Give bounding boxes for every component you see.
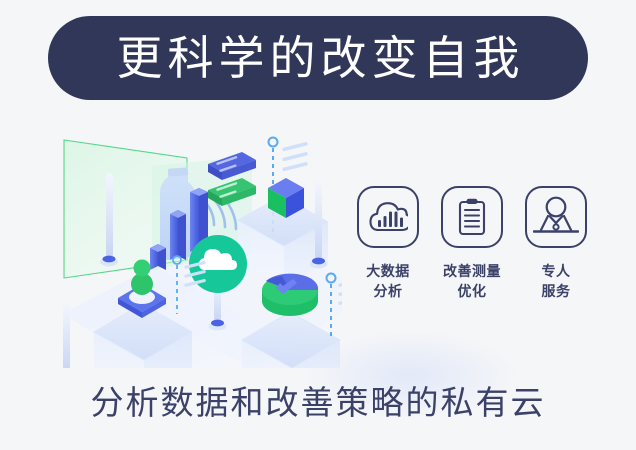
header-banner: 更科学的改变自我 (48, 16, 588, 100)
feature-label-big-data-analysis: 大数据 分析 (366, 261, 410, 302)
clipboard-lines-icon-box (441, 186, 503, 248)
isometric-illustration (42, 118, 342, 368)
feature-label-measure-optimize: 改善测量 优化 (443, 261, 501, 302)
cloud-bar-chart-icon-box (357, 186, 419, 248)
cloud-bar-chart-icon (368, 200, 408, 234)
pie-chart-3d (262, 274, 318, 316)
feature-label-dedicated-service: 专人 服务 (542, 261, 571, 302)
feature-measure-optimize[interactable]: 改善测量 优化 (436, 186, 508, 302)
tagline: 分析数据和改善策略的私有云 (0, 386, 636, 419)
feature-dedicated-service[interactable]: 专人 服务 (520, 186, 592, 302)
feature-list: 大数据 分析 改善测量 优化 (352, 186, 592, 302)
service-person-icon (533, 196, 579, 238)
page-title: 更科学的改变自我 (112, 35, 525, 81)
feature-big-data-analysis[interactable]: 大数据 分析 (352, 186, 424, 302)
poster-root: 更科学的改变自我 (0, 0, 636, 450)
service-person-icon-box (525, 186, 587, 248)
clipboard-lines-icon (455, 197, 489, 237)
illustration-svg (42, 118, 342, 368)
